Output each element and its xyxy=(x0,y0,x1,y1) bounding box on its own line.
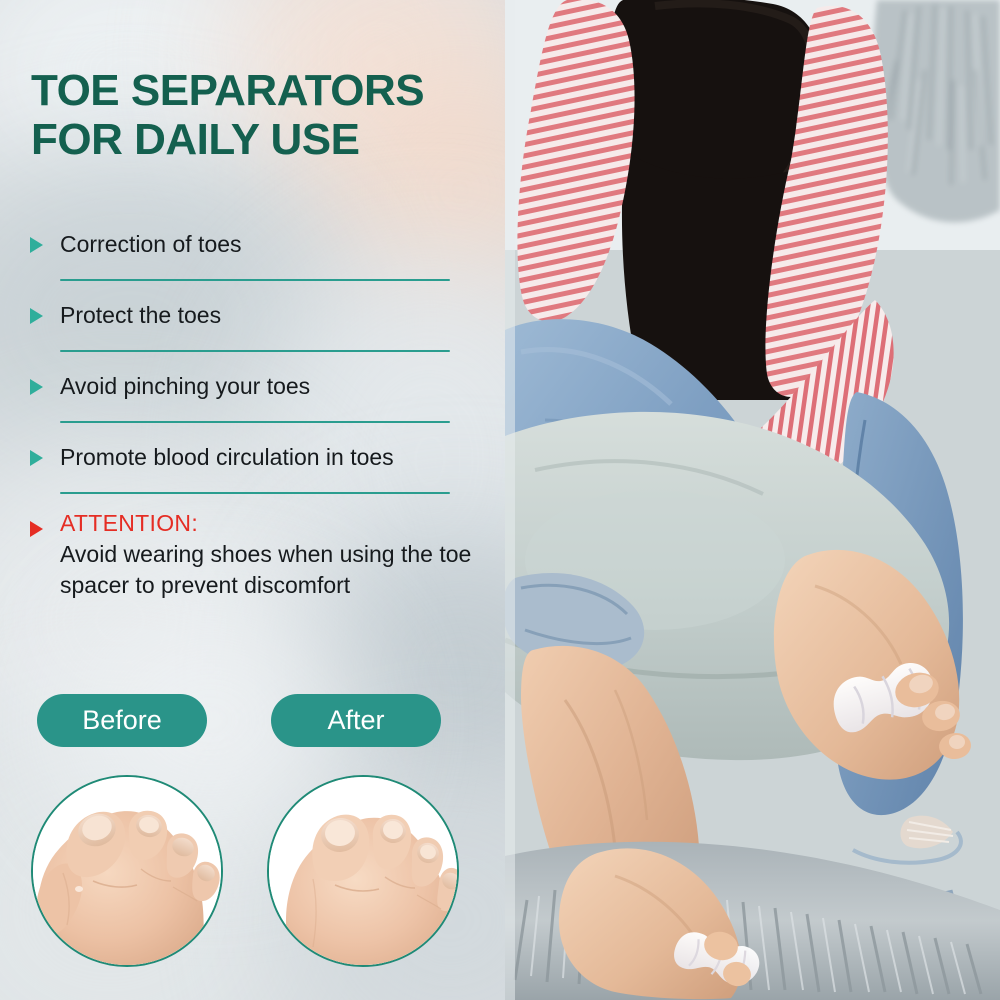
feature-divider xyxy=(60,279,450,281)
headline: TOE SEPARATORS FOR DAILY USE xyxy=(31,66,491,164)
headline-line-1: TOE SEPARATORS xyxy=(31,66,491,115)
before-photo xyxy=(31,775,223,967)
infographic-canvas: TOE SEPARATORS FOR DAILY USE Correction … xyxy=(0,0,1000,1000)
feature-label: Correction of toes xyxy=(60,224,485,265)
feature-divider xyxy=(60,350,450,352)
feature-label: Protect the toes xyxy=(60,295,485,336)
feature-list: Correction of toes Protect the toes Avoi… xyxy=(0,224,505,601)
before-pill: Before xyxy=(37,694,207,747)
lifestyle-photo xyxy=(505,0,1000,1000)
attention-item: ATTENTION: Avoid wearing shoes when usin… xyxy=(0,508,505,601)
feature-label: Avoid pinching your toes xyxy=(60,366,485,407)
feature-label: Promote blood circulation in toes xyxy=(60,437,485,478)
feature-item-2: Avoid pinching your toes xyxy=(0,366,505,407)
triangle-right-icon xyxy=(30,379,43,395)
after-pill: After xyxy=(271,694,441,747)
feature-item-3: Promote blood circulation in toes xyxy=(0,437,505,478)
comparison-images xyxy=(0,775,505,975)
feature-divider xyxy=(60,421,450,423)
info-panel: TOE SEPARATORS FOR DAILY USE Correction … xyxy=(0,0,505,1000)
feature-item-1: Protect the toes xyxy=(0,295,505,336)
comparison-labels: Before After xyxy=(0,694,505,750)
triangle-right-icon xyxy=(30,450,43,466)
triangle-right-icon xyxy=(30,308,43,324)
feature-item-0: Correction of toes xyxy=(0,224,505,265)
feature-divider xyxy=(60,492,450,494)
headline-line-2: FOR DAILY USE xyxy=(31,115,491,164)
after-photo xyxy=(267,775,459,967)
triangle-right-icon xyxy=(30,237,43,253)
attention-body: Avoid wearing shoes when using the toe s… xyxy=(60,538,485,601)
triangle-right-icon xyxy=(30,521,43,537)
attention-label: ATTENTION: xyxy=(60,508,485,538)
